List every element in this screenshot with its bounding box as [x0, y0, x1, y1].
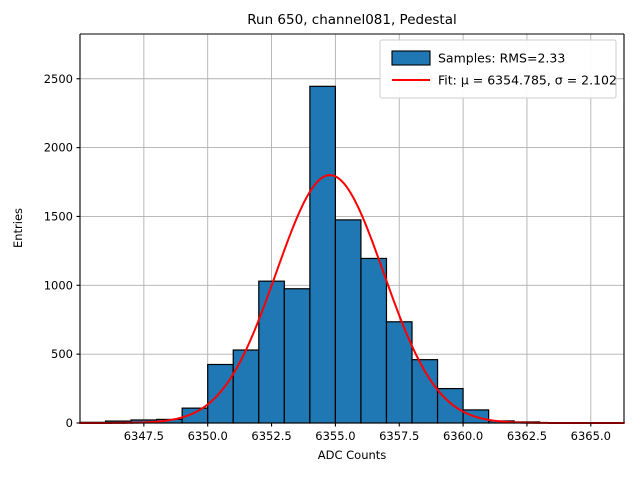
- histogram-bar: [335, 220, 361, 423]
- x-tick-label: 6347.5: [124, 429, 164, 443]
- histogram-bar: [259, 281, 285, 423]
- y-tick-label: 1500: [44, 209, 73, 223]
- matplotlib-figure: Run 650, channel081, Pedestal 6347.56350…: [0, 0, 640, 480]
- histogram-chart: Run 650, channel081, Pedestal 6347.56350…: [0, 0, 640, 480]
- histogram-bar: [284, 289, 310, 423]
- histogram-bar: [233, 350, 259, 423]
- y-tick-label: 2500: [44, 72, 73, 86]
- x-tick-label: 6350.0: [188, 429, 228, 443]
- x-tick-label: 6355.0: [315, 429, 355, 443]
- y-tick-label: 0: [66, 416, 73, 430]
- x-tick-label: 6360.0: [443, 429, 483, 443]
- histogram-bar: [310, 86, 336, 423]
- x-tick-label: 6352.5: [251, 429, 291, 443]
- x-tick-label: 6362.5: [507, 429, 547, 443]
- legend-entry-label: Fit: μ = 6354.785, σ = 2.102: [438, 73, 617, 88]
- y-axis-label: Entries: [11, 208, 25, 248]
- legend-swatch-samples: [392, 51, 430, 65]
- x-axis-label: ADC Counts: [318, 448, 387, 462]
- legend-entry-label: Samples: RMS=2.33: [438, 51, 565, 66]
- x-tick-label: 6365.0: [571, 429, 611, 443]
- y-tick-label: 500: [51, 347, 73, 361]
- histogram-bar: [208, 364, 234, 423]
- x-tick-label: 6357.5: [379, 429, 419, 443]
- y-tick-label: 2000: [44, 141, 73, 155]
- page-title: Run 650, channel081, Pedestal: [247, 12, 457, 28]
- legend-frame: [380, 40, 616, 98]
- y-tick-label: 1000: [44, 278, 73, 292]
- legend[interactable]: Samples: RMS=2.33Fit: μ = 6354.785, σ = …: [380, 40, 617, 98]
- histogram-bar: [361, 258, 387, 423]
